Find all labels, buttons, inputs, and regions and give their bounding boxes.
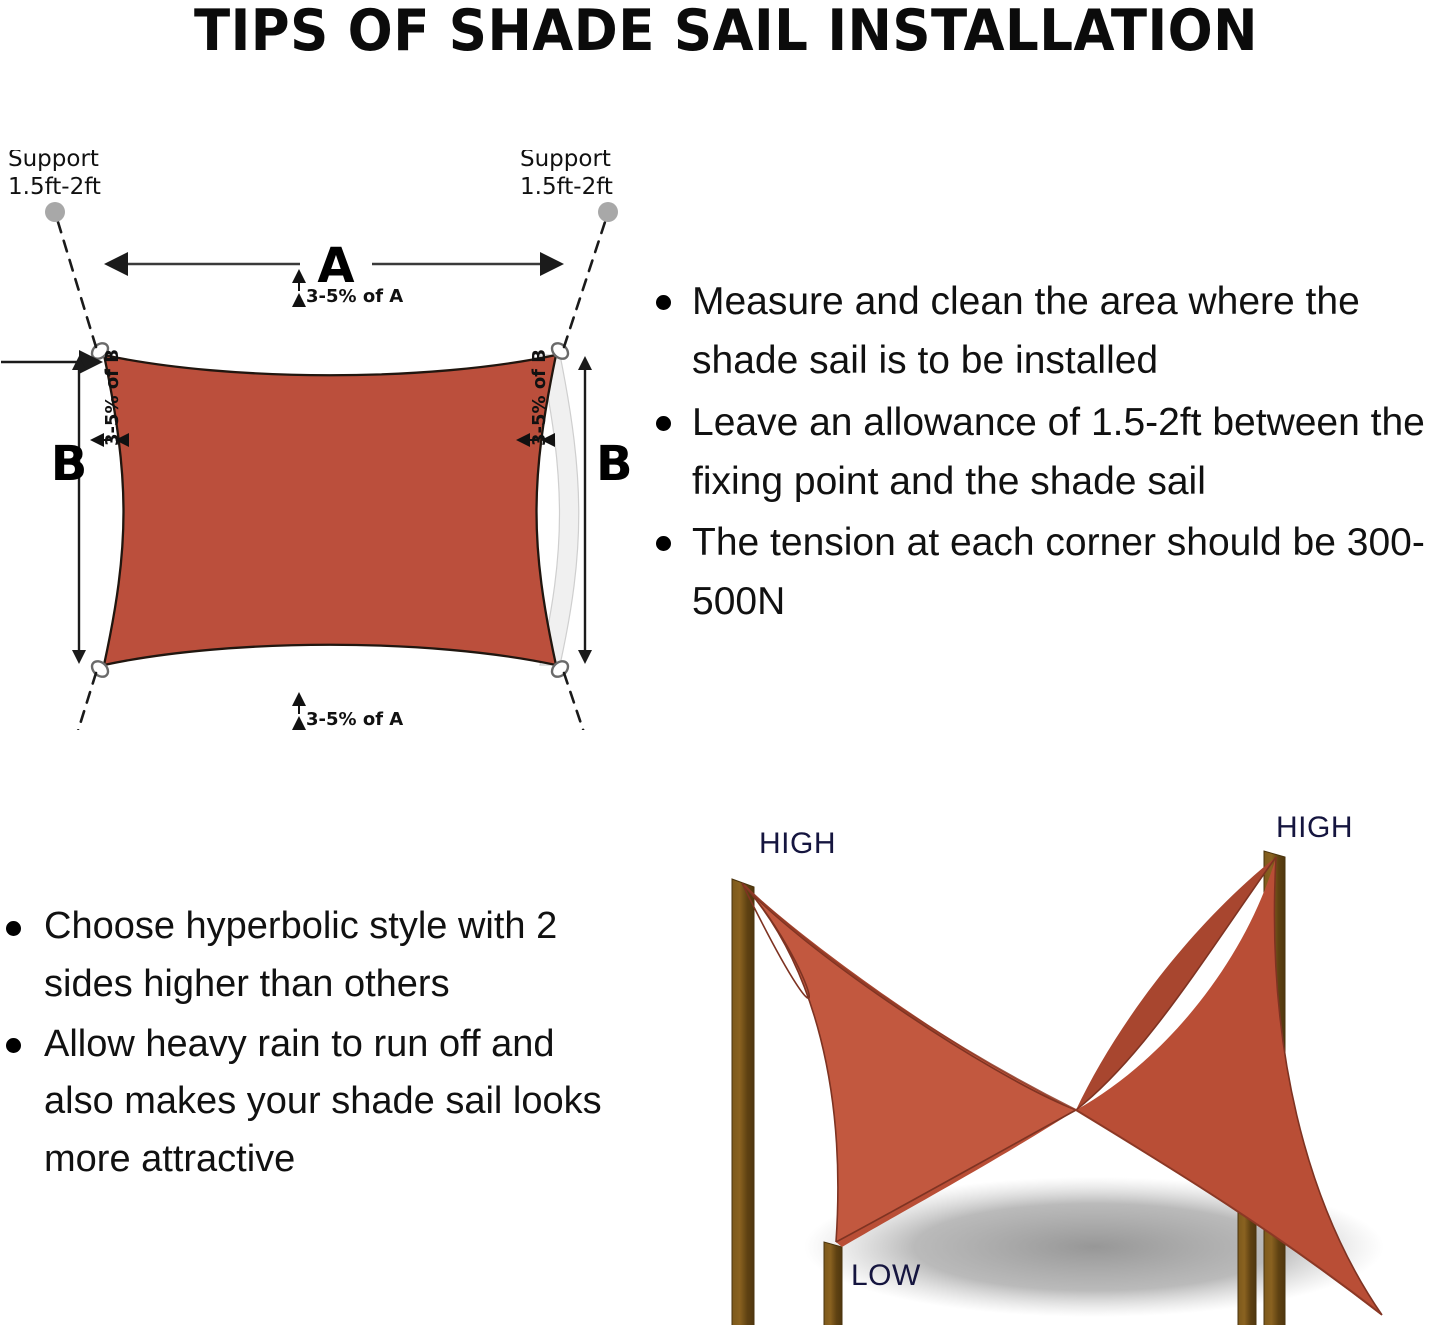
support-lead-top-right (564, 202, 618, 347)
curve-depth-a-bottom-label: 3-5% of A (306, 709, 403, 730)
dimension-b-right-label: B (596, 436, 633, 492)
label-high-left: HIGH (759, 827, 836, 860)
bullet-dot-icon (656, 536, 671, 551)
curve-depth-b-left-label: 3-5% of B (102, 349, 123, 446)
dimension-b-left-label: B (51, 436, 88, 492)
bullet-dot-icon (6, 921, 21, 936)
support-label-top-right: Support 1.5ft-2ft (520, 150, 613, 200)
list-item-text: Choose hyperbolic style with 2 sides hig… (44, 905, 557, 1005)
curve-depth-a-bottom: 3-5% of A (299, 706, 403, 730)
support-lead-bottom-right (564, 673, 618, 730)
support-value-text: 1.5ft-2ft (8, 174, 101, 200)
list-item-text: Leave an allowance of 1.5-2ft between th… (692, 401, 1425, 503)
hyperbolic-shade-sail-illustration: HIGH HIGH LOW LOW (646, 795, 1452, 1325)
hypar-svg: HIGH HIGH LOW LOW (646, 795, 1452, 1325)
support-value-text: 1.5ft-2ft (520, 174, 613, 200)
bullet-dot-icon (656, 416, 671, 431)
list-item-text: The tension at each corner should be 300… (692, 521, 1425, 623)
list-item: The tension at each corner should be 300… (646, 513, 1452, 632)
installation-tips-list: Measure and clean the area where the sha… (646, 272, 1452, 634)
dimension-diagram-svg: Support 1.5ft-2ft Support 1.5ft-2ft Supp… (0, 150, 660, 730)
label-low-left: LOW (851, 1259, 921, 1292)
shade-sail-shape (104, 355, 556, 665)
curve-depth-a-top-label: 3-5% of A (306, 286, 403, 307)
list-item: Leave an allowance of 1.5-2ft between th… (646, 393, 1452, 512)
list-item-text: Measure and clean the area where the sha… (692, 280, 1360, 382)
curve-depth-a-top: 3-5% of A (299, 283, 403, 307)
post-left-high (732, 879, 754, 1325)
list-item: Allow heavy rain to run off and also mak… (0, 1016, 620, 1189)
list-item: Choose hyperbolic style with 2 sides hig… (0, 898, 620, 1014)
label-high-right: HIGH (1276, 811, 1353, 844)
bullet-dot-icon (6, 1038, 21, 1053)
support-label-top-left: Support 1.5ft-2ft (8, 150, 101, 200)
page-title: TIPS OF SHADE SAIL INSTALLATION (51, 0, 1401, 62)
curve-depth-b-right-label: 3-5% of B (529, 349, 550, 446)
list-item-text: Allow heavy rain to run off and also mak… (44, 1023, 602, 1181)
support-label-text: Support (8, 150, 99, 172)
bullet-dot-icon (656, 295, 671, 310)
support-lead-bottom-left (45, 673, 96, 730)
dimension-b-right: B (578, 356, 633, 664)
list-item: Measure and clean the area where the sha… (646, 272, 1452, 391)
dimension-b-left: B (1, 356, 87, 664)
post-left-low (824, 1242, 842, 1325)
shade-sail-dimension-diagram: Support 1.5ft-2ft Support 1.5ft-2ft Supp… (0, 150, 660, 730)
support-label-text: Support (520, 150, 611, 172)
support-lead-top-left (45, 202, 96, 347)
hyperbolic-tips-list: Choose hyperbolic style with 2 sides hig… (0, 898, 620, 1191)
